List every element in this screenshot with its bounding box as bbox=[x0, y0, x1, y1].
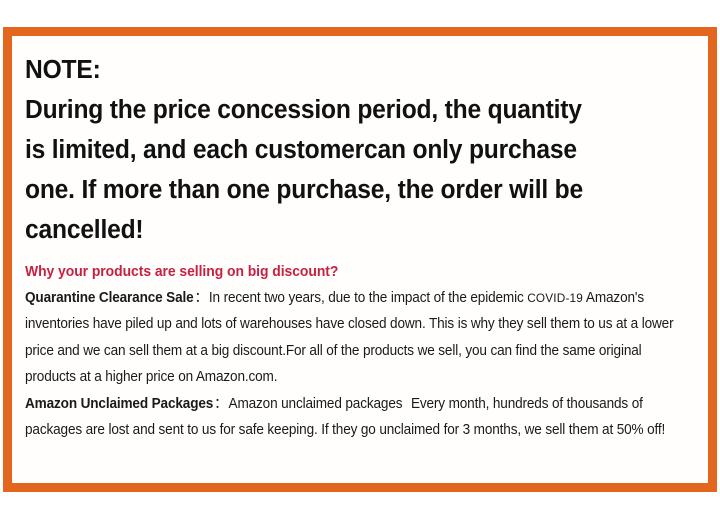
headline-line-3: is limited, and each customercan only pu… bbox=[25, 130, 696, 170]
headline-line-4: one. If more than one purchase, the orde… bbox=[25, 170, 696, 210]
section-label-unclaimed: Amazon Unclaimed Packages bbox=[25, 396, 213, 412]
section-label-quarantine: Quarantine Clearance Sale bbox=[25, 290, 194, 306]
section-colon-quarantine: ： bbox=[194, 290, 209, 306]
headline-line-note: NOTE: bbox=[25, 50, 696, 90]
covid-acronym: COVID-19 bbox=[527, 291, 583, 305]
notice-content: NOTE: During the price concession period… bbox=[12, 36, 708, 483]
section-quarantine-clearance-sale: Quarantine Clearance Sale：In recent two … bbox=[25, 285, 696, 391]
section-amazon-unclaimed-packages: Amazon Unclaimed Packages：Amazon unclaim… bbox=[25, 391, 696, 444]
section-text-quarantine-lead: In recent two years, due to the impact o… bbox=[209, 290, 527, 306]
section-colon-unclaimed: ： bbox=[213, 396, 228, 412]
notice-headline: NOTE: During the price concession period… bbox=[25, 50, 696, 250]
headline-line-5: cancelled! bbox=[25, 210, 696, 250]
section-question: Why your products are selling on big dis… bbox=[25, 262, 695, 282]
section-text-unclaimed-lead: Amazon unclaimed packages bbox=[229, 396, 403, 412]
notice-card: NOTE: During the price concession period… bbox=[3, 27, 717, 492]
headline-line-2: During the price concession period, the … bbox=[25, 90, 696, 130]
